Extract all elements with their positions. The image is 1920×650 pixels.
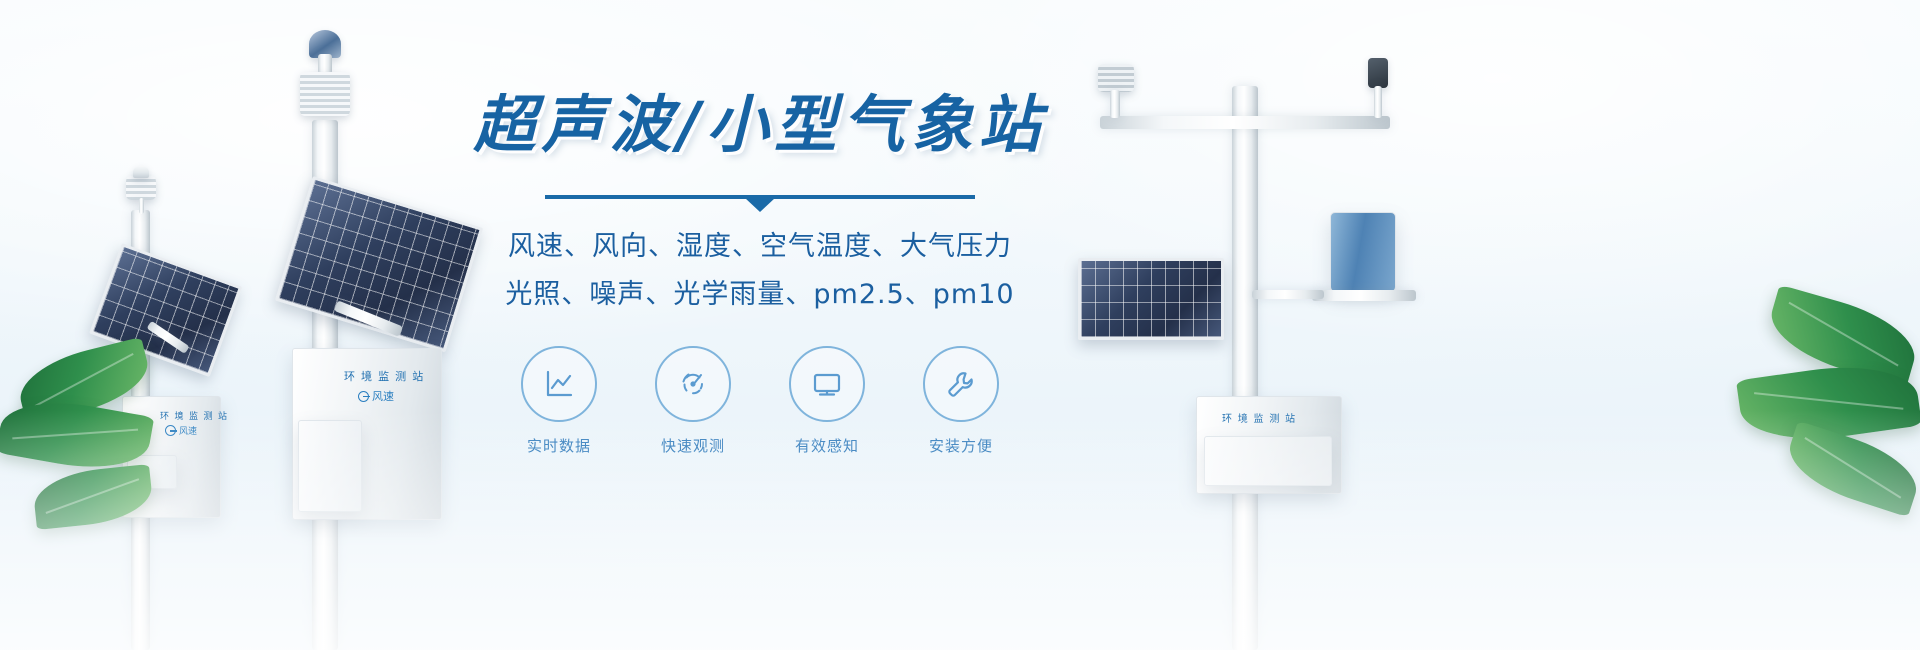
right-cabinet-label: 环 境 监 测 站 (1222, 410, 1297, 425)
rain-gauge (1330, 212, 1396, 292)
feature-label: 安装方便 (923, 435, 999, 456)
monitor-icon (807, 364, 847, 404)
feature-fast-observation[interactable]: 快速观测 (655, 346, 731, 456)
center-cabinet-door (298, 420, 362, 512)
feature-icon-circle (521, 346, 597, 422)
feature-list: 实时数据 快速观测 (430, 346, 1090, 456)
center-cabinet-label: 环 境 监 测 站 (344, 368, 425, 384)
subtitle-line-1: 风速、风向、湿度、空气温度、大气压力 (430, 225, 1090, 269)
brand-logo-icon (358, 391, 369, 402)
feature-icon-circle (923, 346, 999, 422)
center-brand-mark: 风速 (358, 388, 394, 404)
feature-easy-installation[interactable]: 安装方便 (923, 346, 999, 456)
subtitle-line-2: 光照、噪声、光学雨量、pm2.5、pm10 (430, 273, 1090, 317)
feature-effective-sensing[interactable]: 有效感知 (789, 346, 865, 456)
feature-label: 有效感知 (789, 435, 865, 456)
right-solar-panel (1078, 258, 1224, 340)
right-radiation-shield (1098, 64, 1134, 92)
wrench-icon (941, 364, 981, 404)
camera-sensor (1368, 58, 1388, 88)
rain-gauge-shelf (1312, 290, 1416, 301)
banner-content: 超声波/小型气象站 风速、风向、湿度、空气温度、大气压力 光照、噪声、光学雨量、… (430, 92, 1090, 456)
left-brand-text: 风速 (179, 424, 197, 437)
feature-icon-circle (655, 346, 731, 422)
right-crossarm (1100, 116, 1390, 129)
left-sensor-mast (139, 198, 144, 214)
left-radiation-shield (126, 176, 156, 200)
caret-down-icon (745, 198, 775, 212)
left-cabinet-label: 环 境 监 测 站 (160, 409, 229, 422)
center-brand-text: 风速 (372, 388, 394, 404)
center-radiation-shield (300, 72, 350, 116)
left-brand-mark: 风速 (165, 424, 197, 437)
brand-logo-icon (165, 425, 176, 436)
left-sensor-head (133, 166, 149, 178)
rain-gauge-arm (1252, 290, 1324, 299)
page-title: 超声波/小型气象站 (430, 92, 1090, 159)
title-divider (545, 195, 975, 199)
camera-mast (1374, 86, 1382, 118)
line-chart-icon (539, 364, 579, 404)
feature-label: 快速观测 (655, 435, 731, 456)
feature-label: 实时数据 (521, 435, 597, 456)
right-shield-mast (1110, 90, 1120, 118)
center-sensor-mast (318, 54, 332, 74)
feature-realtime-data[interactable]: 实时数据 (521, 346, 597, 456)
feature-icon-circle (789, 346, 865, 422)
product-banner: 环 境 监 测 站 风速 环 境 监 测 站 风速 (0, 0, 1920, 650)
right-pole (1232, 86, 1258, 650)
radar-wave-icon (673, 364, 713, 404)
right-cabinet-door (1204, 436, 1332, 486)
